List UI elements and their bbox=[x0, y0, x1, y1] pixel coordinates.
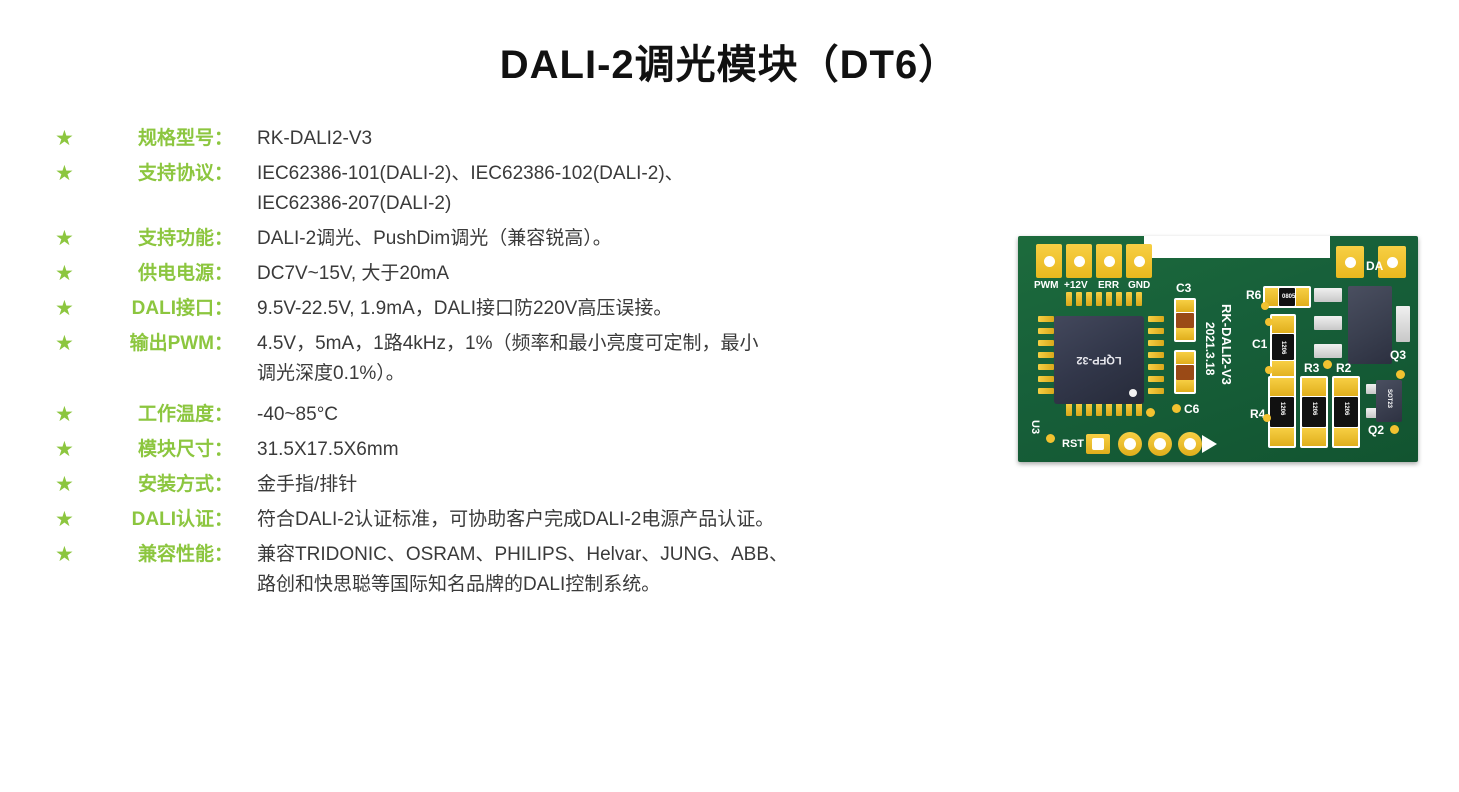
component-pad bbox=[1270, 428, 1294, 446]
silk-label-q2: Q2 bbox=[1368, 424, 1384, 436]
spec-value-line: 调光深度0.1%）。 bbox=[257, 359, 985, 389]
component-pad bbox=[1176, 300, 1194, 312]
silk-label-12v: +12V bbox=[1064, 281, 1088, 291]
chip-leg-right bbox=[1148, 328, 1164, 334]
component-pad bbox=[1176, 380, 1194, 392]
chip-label: LQFP-32 bbox=[1054, 354, 1144, 366]
component-code: 1206 bbox=[1280, 341, 1286, 354]
pad-rst bbox=[1086, 434, 1110, 454]
star-icon: ★ bbox=[55, 505, 85, 535]
chip-leg-right bbox=[1148, 388, 1164, 394]
silk-label-r6: R6 bbox=[1246, 289, 1261, 301]
pad-hole bbox=[1124, 438, 1136, 450]
chip-leg-top bbox=[1126, 292, 1132, 306]
component-r2: 1206 bbox=[1332, 376, 1360, 448]
component-c1: 1206 bbox=[1270, 314, 1296, 380]
star-icon: ★ bbox=[55, 224, 85, 254]
spec-row-power: ★ 供电电源： DC7V~15V, 大于20mA bbox=[55, 259, 985, 289]
chip-leg-right bbox=[1148, 352, 1164, 358]
pad-hole bbox=[1074, 256, 1085, 267]
spec-value: -40~85°C bbox=[233, 400, 985, 430]
via-c6 bbox=[1172, 404, 1181, 413]
spec-value: DALI-2调光、PushDim调光（兼容锐高）。 bbox=[233, 224, 985, 254]
chip-leg-right bbox=[1148, 376, 1164, 382]
chip-leg-top bbox=[1096, 292, 1102, 306]
component-pad bbox=[1334, 428, 1358, 446]
component-r6: 0805 bbox=[1263, 286, 1311, 308]
spec-value: 9.5V-22.5V, 1.9mA，DALI接口防220V高压误接。 bbox=[233, 294, 985, 324]
star-icon: ★ bbox=[55, 124, 85, 154]
spec-label: 模块尺寸： bbox=[85, 435, 233, 465]
silk-label-u3: U3 bbox=[1029, 420, 1040, 434]
via-q3 bbox=[1323, 360, 1332, 369]
via-bottom-right bbox=[1146, 408, 1155, 417]
spec-value: IEC62386-101(DALI-2)、IEC62386-102(DALI-2… bbox=[233, 159, 985, 219]
component-pad bbox=[1176, 328, 1194, 340]
component-pad bbox=[1334, 378, 1358, 396]
chip-leg-left bbox=[1038, 388, 1054, 394]
spec-row-model: ★ 规格型号： RK-DALI2-V3 bbox=[55, 124, 985, 154]
via-q2-bottom bbox=[1390, 425, 1399, 434]
component-code: 0805 bbox=[1282, 294, 1295, 300]
spec-value: 兼容TRIDONIC、OSRAM、PHILIPS、Helvar、JUNG、ABB… bbox=[233, 540, 985, 600]
component-c6 bbox=[1174, 350, 1196, 394]
chip-leg-bottom bbox=[1136, 402, 1142, 416]
spec-value-line: IEC62386-207(DALI-2) bbox=[257, 189, 985, 219]
spec-value-line: RK-DALI2-V3 bbox=[257, 124, 985, 154]
spec-list: ★ 规格型号： RK-DALI2-V3 ★ 支持协议： IEC62386-101… bbox=[55, 124, 985, 605]
component-pad bbox=[1176, 352, 1194, 364]
via-c1-bottom bbox=[1265, 366, 1273, 374]
silk-date: 2021.3.18 bbox=[1204, 322, 1216, 375]
spec-row-mounting: ★ 安装方式： 金手指/排针 bbox=[55, 470, 985, 500]
component-code: 1206 bbox=[1311, 402, 1317, 415]
pad-da-1 bbox=[1336, 246, 1364, 278]
spec-value: 31.5X17.5X6mm bbox=[233, 435, 985, 465]
spec-label: 支持功能： bbox=[85, 224, 233, 254]
chip-leg-bottom bbox=[1106, 402, 1112, 416]
chip-leg-bottom bbox=[1086, 402, 1092, 416]
lqfp-32-chip: LQFP-32 bbox=[1054, 316, 1144, 404]
spec-label: 规格型号： bbox=[85, 124, 233, 154]
star-icon: ★ bbox=[55, 470, 85, 500]
component-code: 1206 bbox=[1343, 402, 1349, 415]
chip-leg-top bbox=[1066, 292, 1072, 306]
spec-row-dimensions: ★ 模块尺寸： 31.5X17.5X6mm bbox=[55, 435, 985, 465]
component-pad bbox=[1272, 316, 1294, 333]
mount-hole-3 bbox=[1178, 432, 1202, 456]
via-q2-top bbox=[1396, 370, 1405, 379]
spec-value-line: 9.5V-22.5V, 1.9mA，DALI接口防220V高压误接。 bbox=[257, 294, 985, 324]
chip-leg-top bbox=[1076, 292, 1082, 306]
component-q2: SOT23 bbox=[1376, 380, 1402, 422]
chip-leg-left bbox=[1038, 364, 1054, 370]
component-pad bbox=[1270, 378, 1294, 396]
spec-value-line: -40~85°C bbox=[257, 400, 985, 430]
pcb-product-image: PWM +12V ERR GND DA bbox=[1018, 236, 1418, 462]
pad-hole bbox=[1044, 256, 1055, 267]
spec-value-line: 路创和快思聪等国际知名品牌的DALI控制系统。 bbox=[257, 570, 985, 600]
chip-leg-bottom bbox=[1096, 402, 1102, 416]
spec-row-temperature: ★ 工作温度： -40~85°C bbox=[55, 400, 985, 430]
spec-label: 工作温度： bbox=[85, 400, 233, 430]
spec-value: DC7V~15V, 大于20mA bbox=[233, 259, 985, 289]
pad-hole bbox=[1104, 256, 1115, 267]
chip-leg-left bbox=[1038, 316, 1054, 322]
spec-row-compatibility: ★ 兼容性能： 兼容TRIDONIC、OSRAM、PHILIPS、Helvar、… bbox=[55, 540, 985, 600]
solder-tab bbox=[1314, 344, 1342, 358]
pad-pwm bbox=[1036, 244, 1062, 278]
pad-hole bbox=[1134, 256, 1145, 267]
page-title: DALI-2调光模块（DT6） bbox=[0, 32, 1459, 90]
mount-hole-2 bbox=[1148, 432, 1172, 456]
product-spec-page: DALI-2调光模块（DT6） ★ 规格型号： RK-DALI2-V3 ★ 支持… bbox=[0, 0, 1459, 792]
spec-value-line: DC7V~15V, 大于20mA bbox=[257, 259, 985, 289]
spec-value-line: 兼容TRIDONIC、OSRAM、PHILIPS、Helvar、JUNG、ABB… bbox=[257, 540, 985, 570]
silk-label-err: ERR bbox=[1098, 281, 1119, 291]
pad-hole bbox=[1154, 438, 1166, 450]
solder-tab bbox=[1314, 316, 1342, 330]
pad-hole bbox=[1387, 257, 1398, 268]
star-icon: ★ bbox=[55, 159, 85, 189]
spec-value-line: 符合DALI-2认证标准，可协助客户完成DALI-2电源产品认证。 bbox=[257, 505, 985, 535]
component-pad bbox=[1296, 288, 1309, 306]
spec-label: 支持协议： bbox=[85, 159, 233, 189]
spec-row-pwm-output: ★ 输出PWM： 4.5V，5mA，1路4kHz，1%（频率和最小亮度可定制，最… bbox=[55, 329, 985, 389]
component-c3 bbox=[1174, 298, 1196, 342]
pad-12v bbox=[1066, 244, 1092, 278]
component-pad bbox=[1302, 378, 1326, 396]
spec-row-functions: ★ 支持功能： DALI-2调光、PushDim调光（兼容锐高）。 bbox=[55, 224, 985, 254]
component-body bbox=[1176, 313, 1194, 328]
pad-err bbox=[1096, 244, 1122, 278]
silk-label-da: DA bbox=[1366, 260, 1383, 272]
component-r4: 1206 bbox=[1268, 376, 1296, 448]
chip-leg-right bbox=[1148, 364, 1164, 370]
silk-label-c6: C6 bbox=[1184, 403, 1199, 415]
chip-leg-top bbox=[1136, 292, 1142, 306]
silk-label-rst: RST bbox=[1062, 439, 1084, 450]
spec-value-line: 4.5V，5mA，1路4kHz，1%（频率和最小亮度可定制，最小 bbox=[257, 329, 985, 359]
silk-label-q3: Q3 bbox=[1390, 349, 1406, 361]
silk-label-c3: C3 bbox=[1176, 282, 1191, 294]
component-code: 1206 bbox=[1279, 402, 1285, 415]
spec-value: 符合DALI-2认证标准，可协助客户完成DALI-2电源产品认证。 bbox=[233, 505, 985, 535]
component-code: SOT23 bbox=[1386, 389, 1392, 408]
chip-leg-left bbox=[1038, 352, 1054, 358]
component-r3: 1206 bbox=[1300, 376, 1328, 448]
spec-label: DALI认证： bbox=[85, 505, 233, 535]
solder-tab bbox=[1314, 288, 1342, 302]
spec-label: DALI接口： bbox=[85, 294, 233, 324]
star-icon: ★ bbox=[55, 435, 85, 465]
chip-leg-bottom bbox=[1116, 402, 1122, 416]
spec-value: RK-DALI2-V3 bbox=[233, 124, 985, 154]
spec-value-line: 31.5X17.5X6mm bbox=[257, 435, 985, 465]
chip-leg-top bbox=[1106, 292, 1112, 306]
star-icon: ★ bbox=[55, 294, 85, 324]
silk-label-r3: R3 bbox=[1304, 362, 1319, 374]
via-c1-top bbox=[1265, 318, 1273, 326]
chip-leg-bottom bbox=[1126, 402, 1132, 416]
via-r4 bbox=[1263, 414, 1271, 422]
spec-value-line: DALI-2调光、PushDim调光（兼容锐高）。 bbox=[257, 224, 985, 254]
chip-leg-right bbox=[1148, 316, 1164, 322]
pcb-notch bbox=[1144, 236, 1330, 258]
spec-value: 4.5V，5mA，1路4kHz，1%（频率和最小亮度可定制，最小 调光深度0.1… bbox=[233, 329, 985, 389]
chip-leg-bottom bbox=[1066, 402, 1072, 416]
q3-tab bbox=[1396, 306, 1410, 342]
star-icon: ★ bbox=[55, 329, 85, 359]
pad-gnd bbox=[1126, 244, 1152, 278]
pad-hole bbox=[1184, 438, 1196, 450]
spec-label: 兼容性能： bbox=[85, 540, 233, 570]
chip-leg-left bbox=[1038, 328, 1054, 334]
via-r6 bbox=[1261, 302, 1269, 310]
spec-value: 金手指/排针 bbox=[233, 470, 985, 500]
component-body bbox=[1176, 365, 1194, 380]
spec-label: 供电电源： bbox=[85, 259, 233, 289]
component-pad bbox=[1302, 428, 1326, 446]
silk-label-gnd: GND bbox=[1128, 281, 1150, 291]
silk-part-number: RK-DALI2-V3 bbox=[1220, 304, 1233, 385]
chip-leg-bottom bbox=[1076, 402, 1082, 416]
chip-leg-top bbox=[1086, 292, 1092, 306]
chip-leg-left bbox=[1038, 340, 1054, 346]
spec-row-dali-interface: ★ DALI接口： 9.5V-22.5V, 1.9mA，DALI接口防220V高… bbox=[55, 294, 985, 324]
chip-leg-left bbox=[1038, 376, 1054, 382]
chip-pin1-dot bbox=[1129, 389, 1137, 397]
chip-leg-right bbox=[1148, 340, 1164, 346]
chip-leg-top bbox=[1116, 292, 1122, 306]
pad-hole bbox=[1092, 438, 1104, 450]
spec-label: 安装方式： bbox=[85, 470, 233, 500]
star-icon: ★ bbox=[55, 400, 85, 430]
star-icon: ★ bbox=[55, 540, 85, 570]
polarity-marker-icon bbox=[1202, 435, 1217, 453]
mount-hole-1 bbox=[1118, 432, 1142, 456]
star-icon: ★ bbox=[55, 259, 85, 289]
component-q3 bbox=[1348, 286, 1392, 364]
spec-row-protocols: ★ 支持协议： IEC62386-101(DALI-2)、IEC62386-10… bbox=[55, 159, 985, 219]
spec-label: 输出PWM： bbox=[85, 329, 233, 359]
pcb-board: PWM +12V ERR GND DA bbox=[1018, 236, 1418, 462]
silk-label-r2: R2 bbox=[1336, 362, 1351, 374]
spec-value-line: 金手指/排针 bbox=[257, 470, 985, 500]
via-u3 bbox=[1046, 434, 1055, 443]
silk-label-c1: C1 bbox=[1252, 338, 1267, 350]
pad-hole bbox=[1345, 257, 1356, 268]
spec-value-line: IEC62386-101(DALI-2)、IEC62386-102(DALI-2… bbox=[257, 159, 985, 189]
spec-row-certification: ★ DALI认证： 符合DALI-2认证标准，可协助客户完成DALI-2电源产品… bbox=[55, 505, 985, 535]
silk-label-pwm: PWM bbox=[1034, 281, 1058, 291]
